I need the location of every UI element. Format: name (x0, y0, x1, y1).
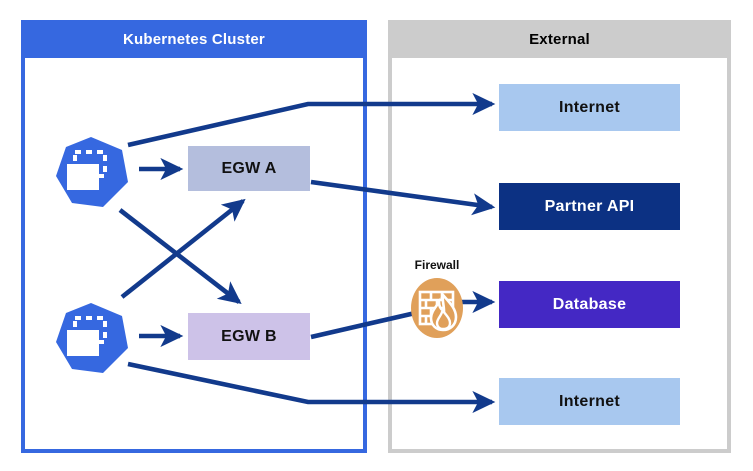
internet-node-top[interactable]: Internet (499, 84, 680, 131)
database-label: Database (553, 296, 627, 314)
kubernetes-cluster-panel-header: Kubernetes Cluster (21, 20, 367, 58)
kubernetes-cluster-title: Kubernetes Cluster (123, 31, 265, 48)
egress-gateway-a-label: EGW A (221, 160, 276, 178)
external-panel-header: External (388, 20, 731, 58)
firewall-icon (409, 275, 465, 341)
internet-bottom-label: Internet (559, 393, 620, 411)
database-node[interactable]: Database (499, 281, 680, 328)
firewall-node[interactable]: Firewall (402, 258, 472, 350)
diagram-canvas: Kubernetes Cluster External (0, 0, 753, 471)
partner-api-node[interactable]: Partner API (499, 183, 680, 230)
egress-gateway-a-node[interactable]: EGW A (188, 146, 310, 191)
internet-node-bottom[interactable]: Internet (499, 378, 680, 425)
egress-gateway-b-node[interactable]: EGW B (188, 313, 310, 360)
firewall-label: Firewall (402, 258, 472, 272)
kubernetes-workload-icon-bottom[interactable] (48, 297, 134, 383)
kubernetes-workload-icon-top[interactable] (48, 131, 134, 217)
external-title: External (529, 31, 590, 48)
kubernetes-icon (48, 131, 134, 217)
kubernetes-cluster-panel (21, 58, 367, 453)
egress-gateway-b-label: EGW B (221, 328, 277, 346)
partner-api-label: Partner API (545, 198, 635, 216)
internet-top-label: Internet (559, 99, 620, 117)
kubernetes-icon (48, 297, 134, 383)
